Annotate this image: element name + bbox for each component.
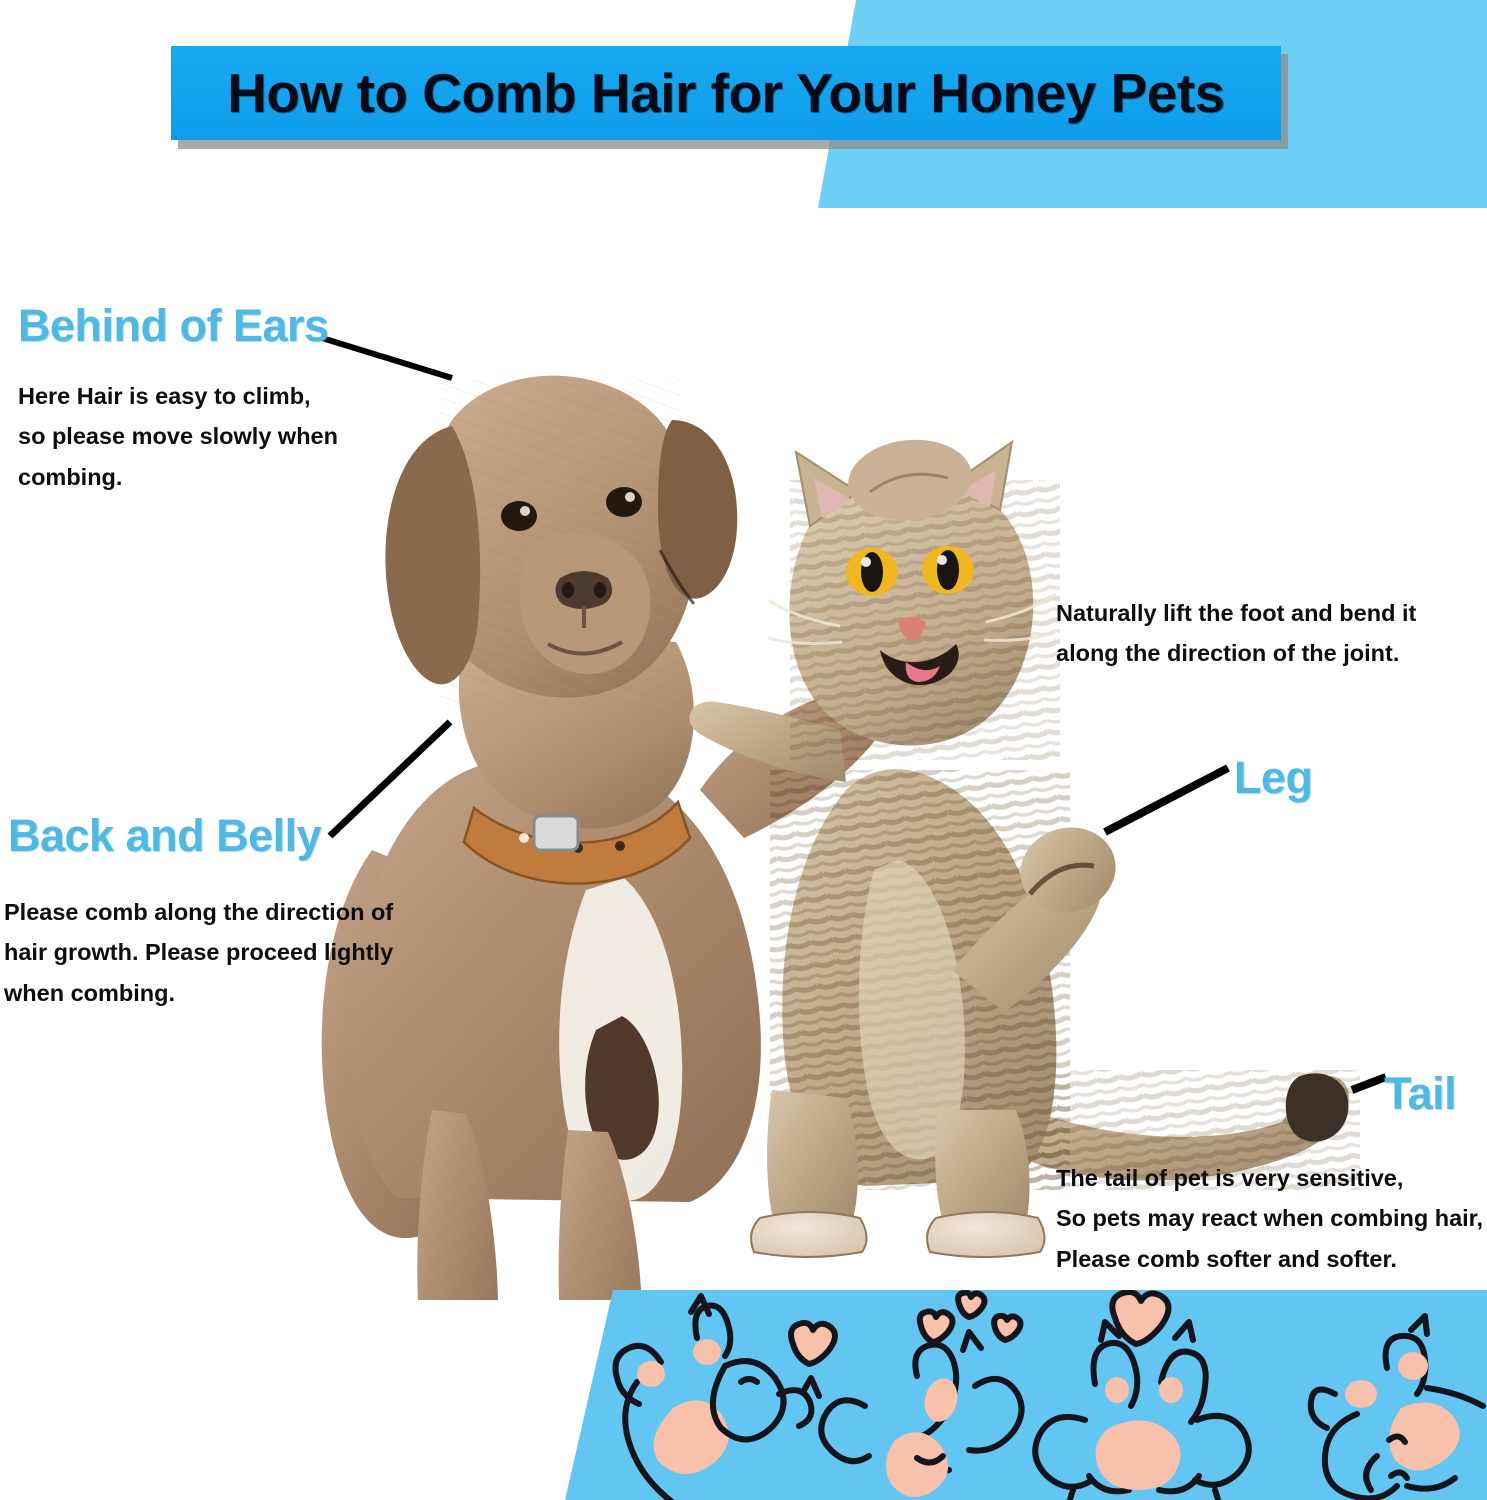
paw-with-cat-face-icon <box>616 1296 836 1500</box>
callout-title-behind-of-ears: Behind of Ears <box>18 300 329 352</box>
callout-title-tail: Tail <box>1384 1068 1456 1120</box>
callout-title-leg: Leg <box>1234 752 1313 804</box>
leader-line-leg <box>1105 768 1228 832</box>
bottom-decorative-banner <box>565 1290 1487 1500</box>
callout-body-behind-of-ears: Here Hair is easy to climb, so please mo… <box>18 376 338 497</box>
leader-line-ears <box>322 338 452 378</box>
leader-line-tail <box>1352 1077 1386 1090</box>
cat-paw-pads-icon <box>1035 1292 1249 1500</box>
cat-face-paw-icon <box>821 1293 1021 1498</box>
callout-title-back-and-belly: Back and Belly <box>8 810 321 862</box>
leader-line-back <box>330 722 450 836</box>
callout-body-leg: Naturally lift the foot and bend it alon… <box>1056 593 1416 674</box>
callout-body-back-and-belly: Please comb along the direction of hair … <box>4 892 393 1013</box>
paw-cat-profile-icon <box>1311 1316 1483 1498</box>
banner-paw-icons <box>565 1290 1487 1500</box>
infographic-page: How to Comb Hair for Your Honey Pets <box>0 0 1487 1500</box>
callout-body-tail: The tail of pet is very sensitive, So pe… <box>1056 1158 1483 1279</box>
